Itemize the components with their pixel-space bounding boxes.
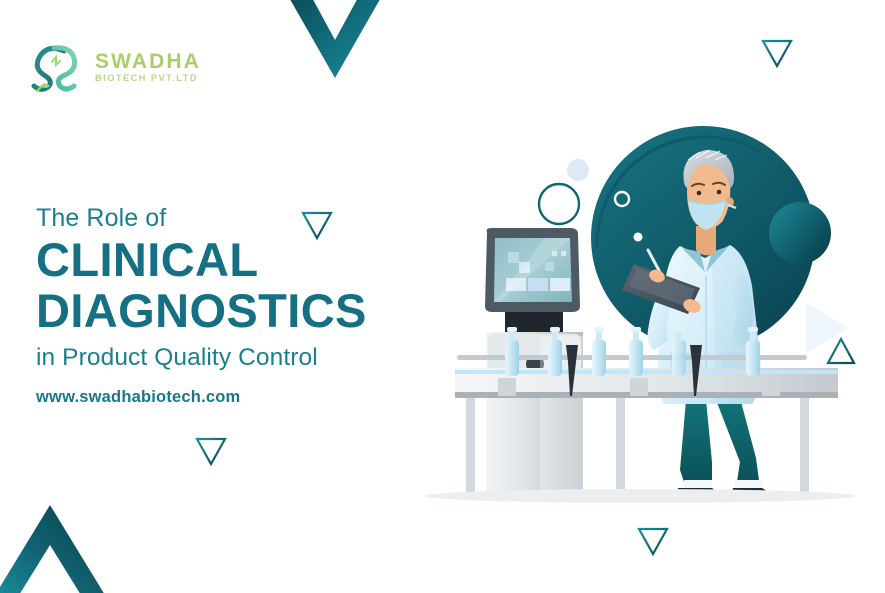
small-dot: [634, 233, 643, 242]
eye-right: [717, 190, 722, 195]
floor-shadow: [425, 489, 855, 503]
belt-leg: [800, 398, 809, 494]
belt-clamp: [630, 378, 648, 396]
neck: [696, 226, 716, 256]
swadha-s-monogram-icon: [30, 42, 86, 94]
bottle: [592, 327, 606, 376]
screen-block: [508, 252, 519, 263]
belt-leg: [466, 398, 475, 494]
eye-left: [697, 191, 702, 196]
headline-pre: The Role of: [36, 203, 456, 234]
screen-tile: [550, 278, 570, 291]
screen-dot: [561, 251, 566, 256]
leg-right: [716, 398, 760, 488]
belt-leg: [616, 398, 625, 494]
brand-name: SWADHA: [95, 51, 201, 72]
small-circle-outline: [539, 184, 579, 224]
screen-tile: [528, 278, 548, 291]
screen-block: [545, 262, 554, 271]
website-url[interactable]: www.swadhabiotech.com: [36, 388, 240, 407]
gradient-sphere: [769, 202, 831, 264]
headline-line-2: DIAGNOSTICS: [36, 285, 456, 337]
promo-banner: SWADHA BIOTECH PVT.LTD The Role of CLINI…: [0, 0, 885, 593]
leg-left: [680, 400, 712, 488]
brand-wordmark: SWADHA BIOTECH PVT.LTD: [95, 51, 201, 85]
bottle: [629, 327, 643, 376]
belt-clamp: [498, 378, 516, 396]
headline-block: The Role of CLINICAL DIAGNOSTICS in Prod…: [36, 203, 456, 374]
brand-logo[interactable]: SWADHA BIOTECH PVT.LTD: [30, 42, 201, 94]
belt-clamp: [762, 378, 780, 396]
brand-tagline: BIOTECH PVT.LTD: [95, 73, 201, 85]
small-circle-filled: [567, 159, 589, 181]
monitor-terminal: [485, 228, 580, 332]
headline-post: in Product Quality Control: [36, 342, 456, 374]
headline-line-1: CLINICAL: [36, 234, 456, 286]
